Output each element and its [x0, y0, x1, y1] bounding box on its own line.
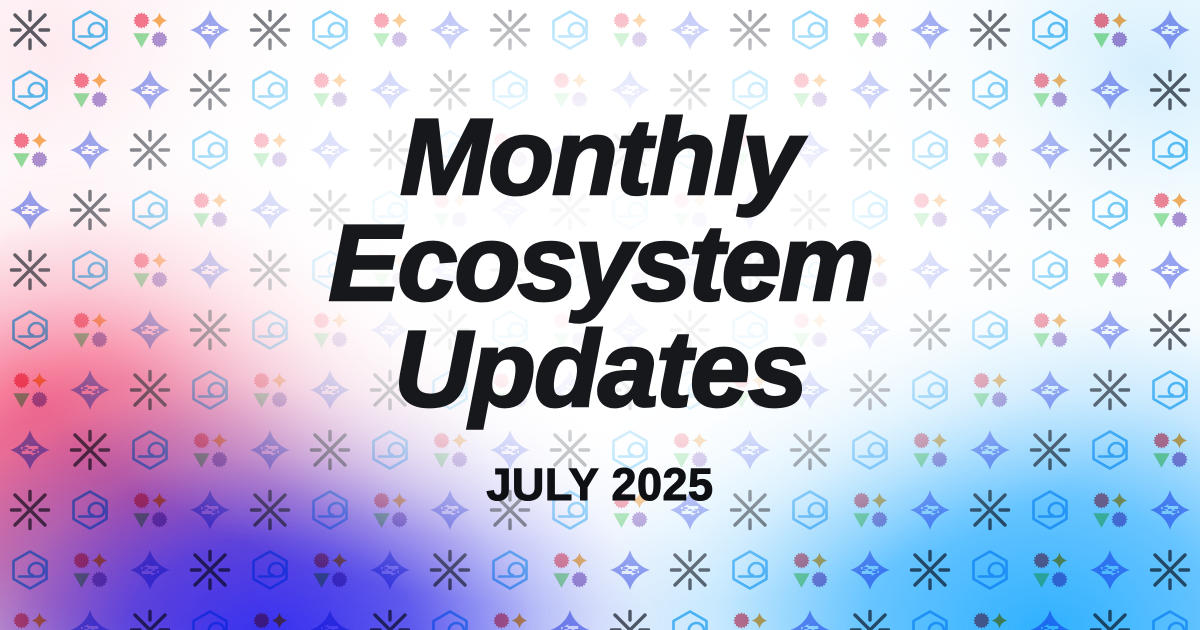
title-line-3: Updates	[328, 316, 871, 422]
title-line-1: Monthly	[328, 104, 871, 210]
title-line-2: Ecosystem	[328, 210, 871, 316]
banner-content: Monthly Ecosystem Updates JULY 2025	[0, 0, 1200, 630]
banner-subtitle: JULY 2025	[486, 421, 713, 511]
monthly-ecosystem-updates-banner: Monthly Ecosystem Updates JULY 2025	[0, 0, 1200, 630]
page-title: Monthly Ecosystem Updates	[328, 104, 871, 421]
